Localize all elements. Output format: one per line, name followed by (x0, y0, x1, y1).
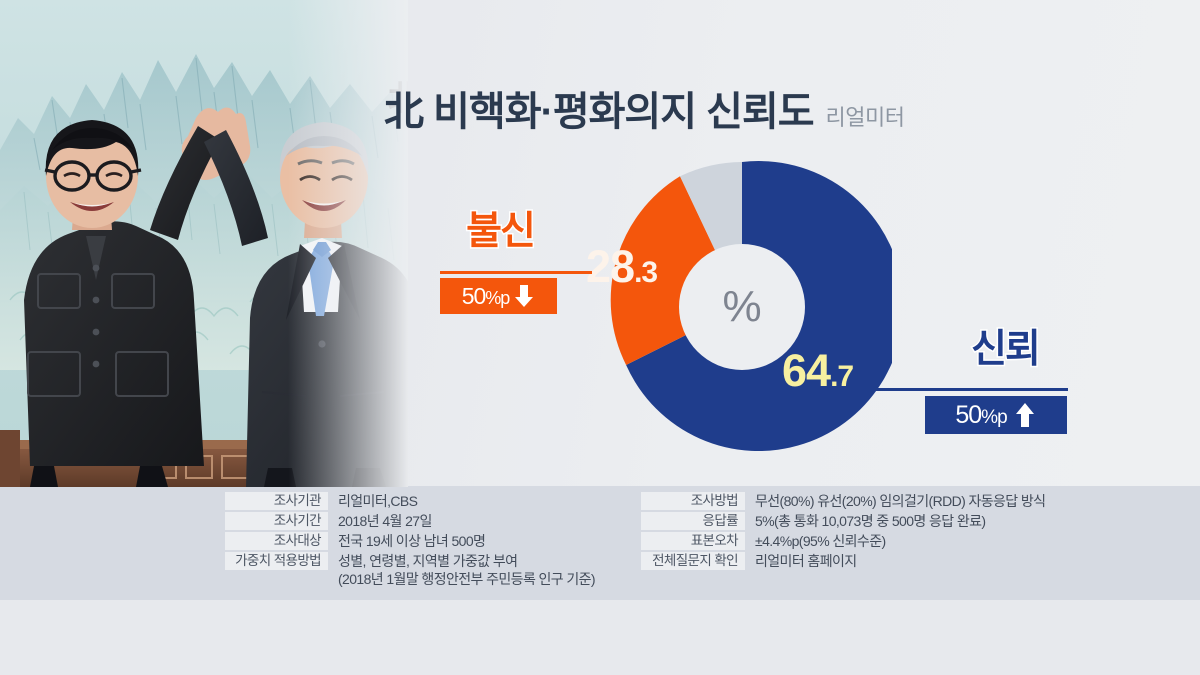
distrust-value-int: 28 (586, 241, 634, 292)
trust-badge-value: 50 (955, 401, 981, 429)
meta-key: 조사기관 (225, 492, 328, 510)
trust-badge-text: 50%p (955, 403, 1006, 428)
distrust-callout: 불신 (440, 212, 560, 251)
meta-value: 성별, 연령별, 지역별 가중값 부여 (338, 552, 595, 570)
meta-key: 응답률 (641, 512, 745, 530)
survey-meta-table-right: 조사방법 무선(80%) 유선(20%) 임의걸기(RDD) 자동응답 방식 응… (641, 492, 1045, 572)
meta-value: ±4.4%p(95% 신뢰수준) (745, 532, 886, 550)
meta-value: 2018년 4월 27일 (328, 512, 432, 530)
infographic-root: 北 (0, 0, 1200, 675)
meta-value: 5%(총 통화 10,073명 중 500명 응답 완료) (745, 512, 985, 530)
title-main-text: 北 비핵화·평화의지 신뢰도 (384, 92, 814, 132)
trust-value-dec: .7 (830, 360, 853, 393)
meta-key: 표본오차 (641, 532, 745, 550)
page-title: 北 비핵화·평화의지 신뢰도 리얼미터 (384, 92, 905, 132)
table-row: 응답률 5%(총 통화 10,073명 중 500명 응답 완료) (641, 512, 1045, 530)
trust-callout: 신뢰 (940, 330, 1070, 369)
trust-value-int: 64 (782, 345, 830, 396)
arrow-up-icon (1013, 402, 1037, 428)
trust-badge-unit: %p (981, 407, 1006, 428)
distrust-leader-line (440, 271, 592, 274)
trust-change-badge: 50%p (925, 396, 1067, 434)
trust-label: 신뢰 (940, 330, 1070, 369)
meta-key: 전체질문지 확인 (641, 552, 745, 570)
donut-center-unit: % (722, 285, 761, 329)
arrow-down-icon (513, 284, 535, 308)
title-source-text: 리얼미터 (826, 107, 905, 132)
table-row: 조사방법 무선(80%) 유선(20%) 임의걸기(RDD) 자동응답 방식 (641, 492, 1045, 510)
distrust-label: 불신 (440, 212, 560, 251)
trust-value: 64.7 (782, 348, 853, 393)
meta-key: 조사방법 (641, 492, 745, 510)
background-band-lower (0, 600, 1200, 675)
distrust-value: 28.3 (586, 244, 657, 289)
meta-key: 가중치 적용방법 (225, 552, 328, 570)
donut-chart: % (592, 157, 892, 457)
distrust-change-badge: 50%p (440, 278, 557, 314)
table-row: 표본오차 ±4.4%p(95% 신뢰수준) (641, 532, 1045, 550)
trust-leader-line (860, 388, 1068, 391)
table-row: 조사기간 2018년 4월 27일 (225, 512, 595, 530)
table-row: 조사기관 리얼미터,CBS (225, 492, 595, 510)
meta-value-note: (2018년 1월말 행정안전부 주민등록 인구 기준) (338, 570, 595, 588)
meta-value: 무선(80%) 유선(20%) 임의걸기(RDD) 자동응답 방식 (745, 492, 1045, 510)
table-row: 조사대상 전국 19세 이상 남녀 500명 (225, 532, 595, 550)
distrust-value-dec: .3 (634, 256, 657, 289)
table-row: 가중치 적용방법 성별, 연령별, 지역별 가중값 부여 (2018년 1월말 … (225, 552, 595, 588)
summit-photo: 北 (0, 0, 408, 487)
meta-value: 전국 19세 이상 남녀 500명 (328, 532, 485, 550)
meta-value-group: 성별, 연령별, 지역별 가중값 부여 (2018년 1월말 행정안전부 주민등… (328, 552, 595, 588)
distrust-badge-text: 50%p (462, 285, 510, 308)
meta-value: 리얼미터,CBS (328, 492, 417, 510)
distrust-badge-value: 50 (462, 283, 486, 309)
meta-key: 조사기간 (225, 512, 328, 530)
survey-meta-table-left: 조사기관 리얼미터,CBS 조사기간 2018년 4월 27일 조사대상 전국 … (225, 492, 595, 590)
distrust-badge-unit: %p (485, 288, 509, 308)
meta-key: 조사대상 (225, 532, 328, 550)
table-row: 전체질문지 확인 리얼미터 홈페이지 (641, 552, 1045, 570)
meta-value: 리얼미터 홈페이지 (745, 552, 857, 570)
